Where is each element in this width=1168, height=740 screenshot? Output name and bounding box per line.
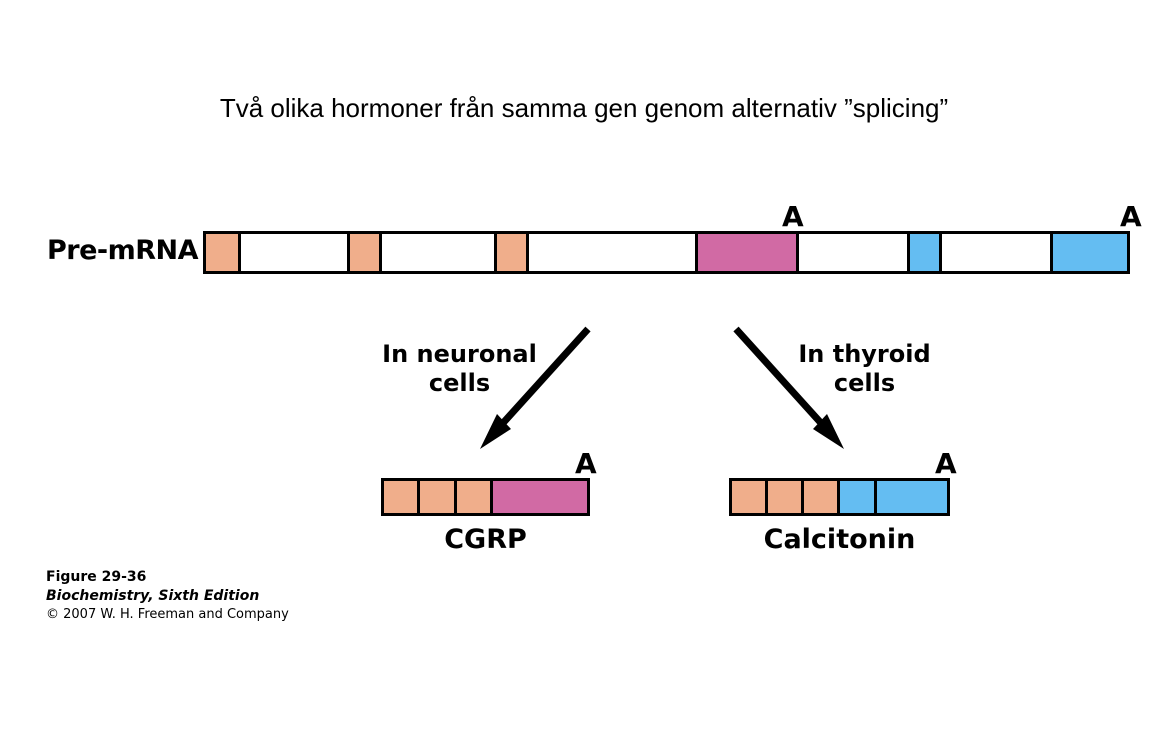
segment-exon-2 [350,234,382,271]
figure-caption: Figure 29-36 Biochemistry, Sixth Edition… [46,568,289,624]
pre-mrna-transcript-bar [203,231,1130,274]
segment-intron-1 [241,234,350,271]
calcitonin-product-label: Calcitonin [719,526,960,553]
segment-exon-5-calcitonin-small [840,481,877,513]
segment-intron-2 [382,234,496,271]
segment-intron-4 [799,234,910,271]
caption-figure-number: Figure 29-36 [46,568,289,587]
segment-exon-4-cgrp [493,481,587,513]
segment-exon-2 [768,481,804,513]
segment-exon-5-calcitonin-small [910,234,942,271]
segment-exon-1 [732,481,768,513]
caption-copyright: © 2007 W. H. Freeman and Company [46,606,289,624]
poly-a-marker-cgrp-product: A [575,450,597,478]
segment-exon-4-cgrp [698,234,799,271]
calcitonin-mrna-bar [729,478,950,516]
slide-title: Två olika hormoner från samma gen genom … [0,93,1168,124]
segment-exon-3 [457,481,493,513]
caption-book-title: Biochemistry, Sixth Edition [46,587,289,606]
poly-a-site-marker-calcitonin: A [1120,203,1142,231]
pre-mrna-label: Pre-mRNA [47,237,198,264]
segment-exon-2 [420,481,456,513]
branch-label-neuronal: In neuronal cells [372,340,547,399]
cgrp-product-label: CGRP [381,526,590,553]
segment-exon-1 [206,234,241,271]
segment-exon-1 [384,481,420,513]
segment-intron-5 [942,234,1053,271]
poly-a-marker-calcitonin-product: A [935,450,957,478]
figure-root: Två olika hormoner från samma gen genom … [0,0,1168,740]
branch-label-thyroid: In thyroid cells [782,340,947,399]
cgrp-mrna-bar [381,478,590,516]
segment-intron-3 [529,234,698,271]
segment-exon-6-calcitonin-large [1053,234,1127,271]
segment-exon-3 [497,234,529,271]
poly-a-site-marker-cgrp: A [782,203,804,231]
segment-exon-3 [804,481,840,513]
segment-exon-6-calcitonin-large [877,481,947,513]
